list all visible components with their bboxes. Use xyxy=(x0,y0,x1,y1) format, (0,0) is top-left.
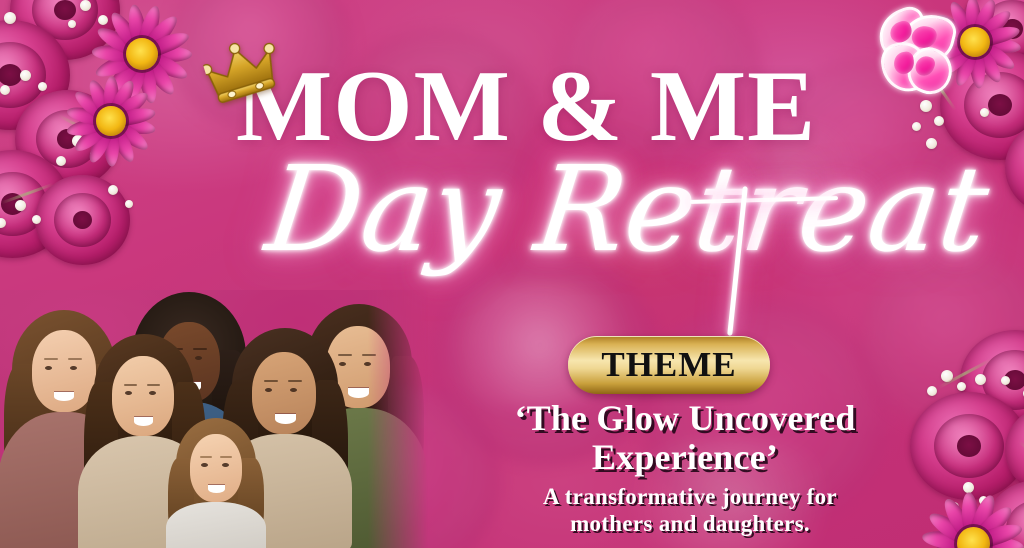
promo-banner: Day Retreat MOM & ME xyxy=(0,0,1024,548)
theme-title: ‘The Glow Uncovered Experience’ xyxy=(470,399,900,476)
dahlia-icon xyxy=(918,488,1024,548)
script-title: Day Retreat xyxy=(261,150,995,268)
group-photo xyxy=(0,290,428,548)
photo-person xyxy=(168,418,264,548)
theme-badge: THEME xyxy=(568,336,770,394)
theme-badge-label: THEME xyxy=(601,345,736,385)
page-title: MOM & ME xyxy=(236,56,816,158)
butterfly-icon xyxy=(876,8,954,94)
tagline: A transformative journey for mothers and… xyxy=(500,483,880,537)
dahlia-icon xyxy=(62,72,160,170)
